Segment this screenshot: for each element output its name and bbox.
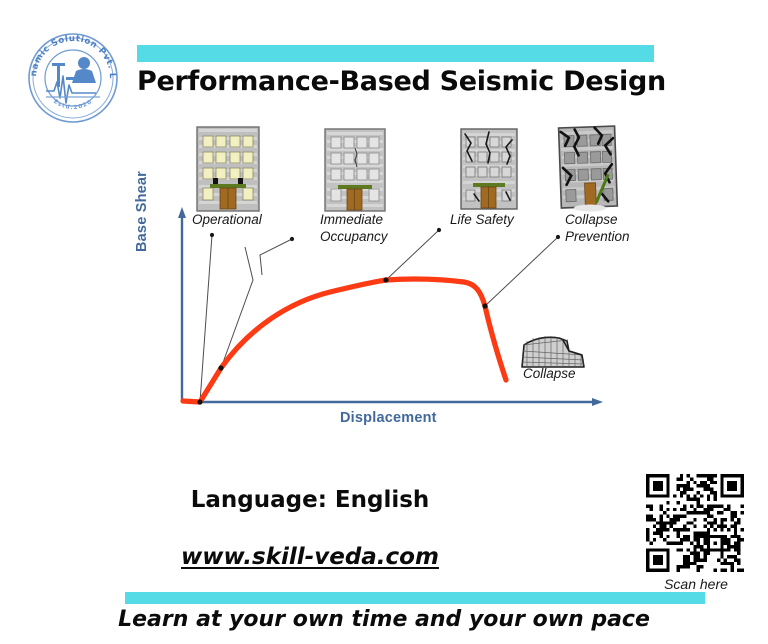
company-logo: Dynamic Solution Pvt. Ltd Estd.2020 [22,27,124,129]
y-axis-label: Base Shear [134,171,150,252]
building-severe-damage-icon [556,123,622,213]
state-label-immediate-occupancy: Immediate Occupancy [320,212,388,246]
building-intact-icon [196,126,260,212]
x-axis-label: Displacement [340,410,437,426]
rubble-pile-icon [519,331,587,369]
qr-code-block: Scan here [646,474,746,592]
website-link[interactable]: www.skill-veda.com [0,544,620,570]
accent-bar-top [137,45,654,62]
building-minor-damage-icon [324,128,386,212]
qr-caption: Scan here [646,576,746,592]
state-label-operational: Operational [192,212,262,229]
page-title: Performance-Based Seismic Design [137,66,657,97]
building-cracked-icon [460,128,518,210]
qr-code-icon[interactable] [646,474,744,572]
accent-bar-bottom [125,592,705,604]
slide-canvas: Dynamic Solution Pvt. Ltd Estd.2020 Perf… [0,0,768,644]
state-label-life-safety: Life Safety [450,212,514,229]
tagline: Learn at your own time and your own pace [0,607,768,632]
language-line: Language: English [0,487,620,513]
state-label-collapse-prevention: Collapse Prevention [565,212,630,246]
